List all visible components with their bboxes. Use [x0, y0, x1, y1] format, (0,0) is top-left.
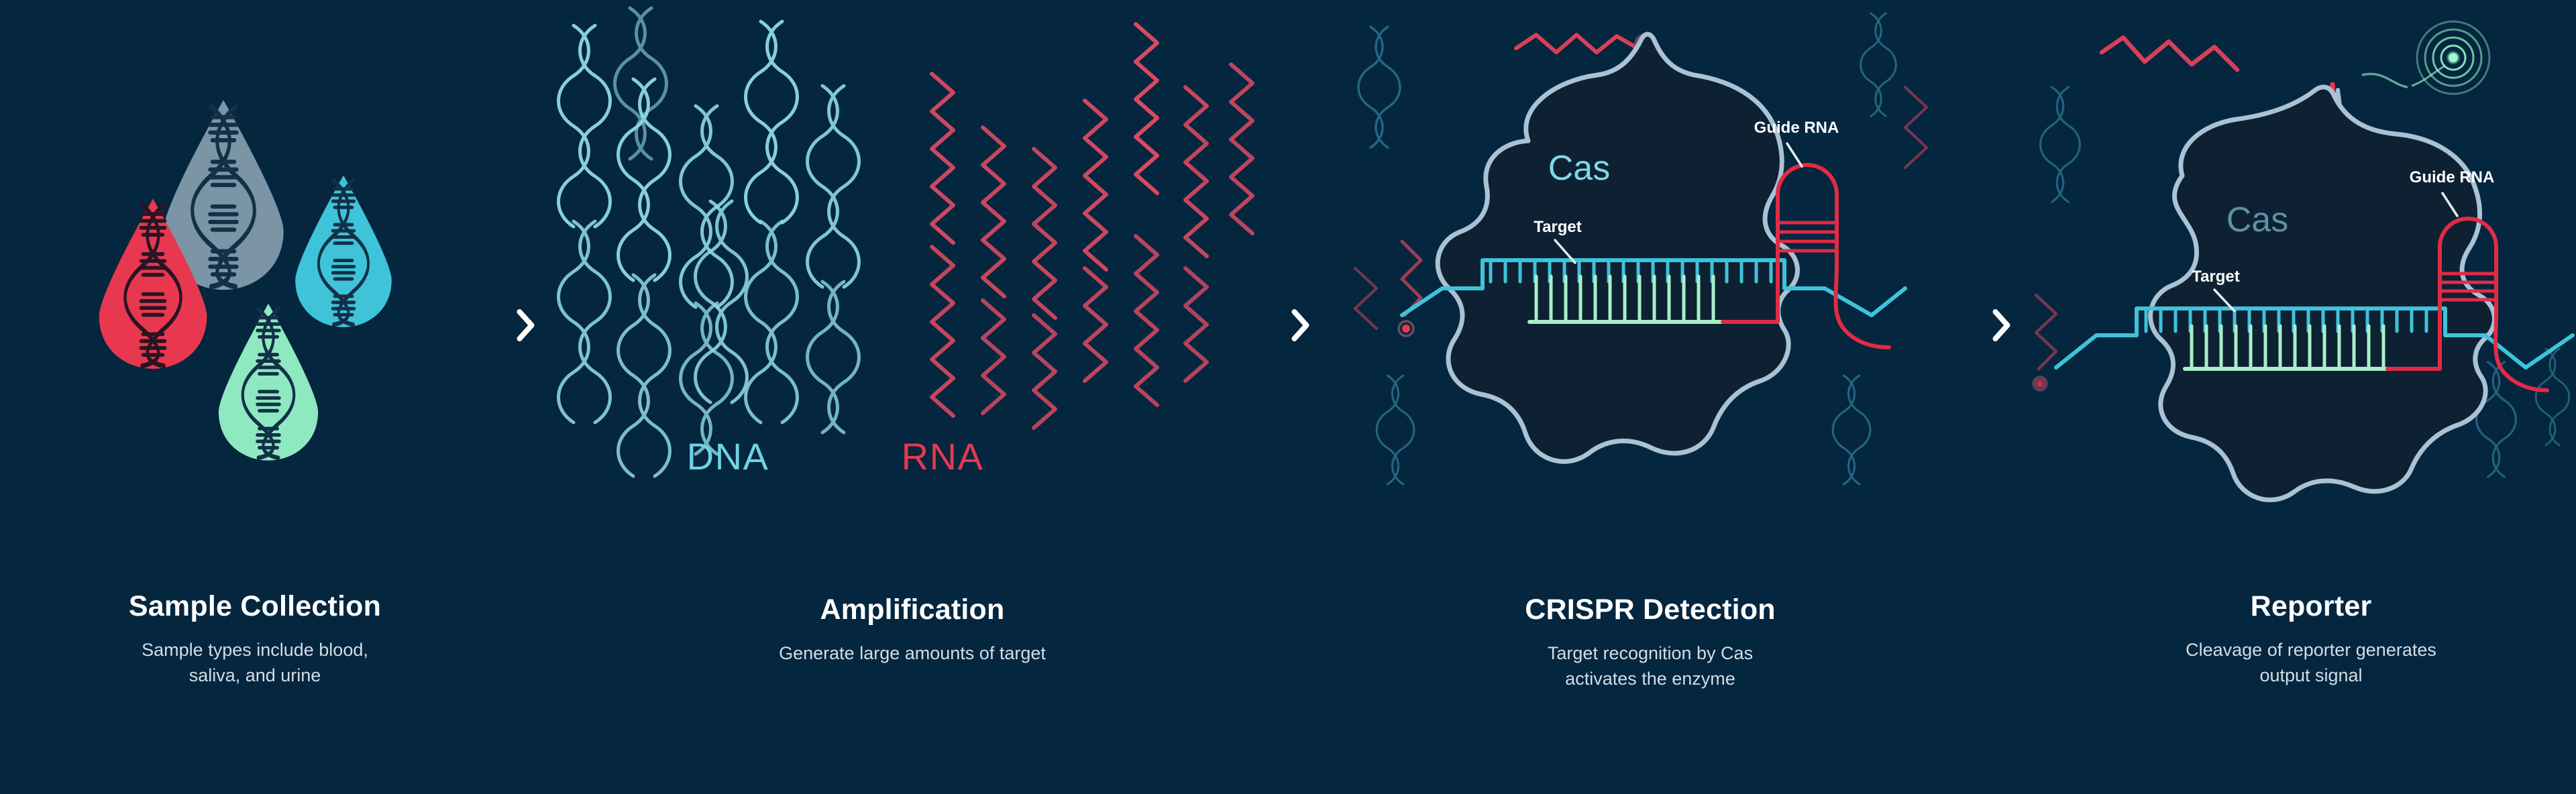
arrow-cell-1 — [510, 0, 540, 794]
step-crispr-detection: Cas Guide RNA Target CRISPR Detection Ta… — [1315, 0, 1986, 794]
step-subtitle-line: activates the enzyme — [1328, 667, 1972, 691]
step-subtitle-line: Cleavage of reporter generates — [2029, 638, 2576, 663]
step-arrow-2 — [1285, 305, 1315, 345]
reporter-caption: Reporter Cleavage of reporter generates … — [2016, 590, 2576, 688]
step-title: Sample Collection — [13, 590, 496, 623]
guide-rna-label: Guide RNA — [1754, 119, 1839, 137]
crispr-detection-caption: CRISPR Detection Target recognition by C… — [1315, 593, 1986, 691]
crispr-detection-artwork: Cas Guide RNA Target — [1315, 0, 1986, 550]
step-sample-collection: Sample Collection Sample types include b… — [0, 0, 510, 794]
step-subtitle-line: Target recognition by Cas — [1328, 641, 1972, 666]
arrow-cell-2 — [1285, 0, 1315, 794]
step-subtitle: Sample types include blood, saliva, and … — [13, 638, 496, 688]
step-subtitle: Target recognition by Cas activates the … — [1328, 641, 1972, 691]
step-subtitle-line: output signal — [2029, 663, 2576, 688]
step-title: Reporter — [2029, 590, 2576, 623]
step-subtitle: Cleavage of reporter generates output si… — [2029, 638, 2576, 688]
target-label: Target — [2192, 268, 2240, 286]
target-label: Target — [1534, 218, 1582, 236]
dna-label: DNA — [687, 435, 769, 477]
mint-droplet — [219, 304, 318, 461]
cas-protein-blob — [1438, 34, 1797, 461]
reporter-artwork: Cas Guide RNA Target — [2016, 0, 2576, 550]
sample-collection-caption: Sample Collection Sample types include b… — [0, 590, 510, 688]
rna-label: RNA — [902, 435, 984, 477]
amplification-artwork: DNA RNA — [540, 0, 1285, 550]
crispr-workflow-diagram: Sample Collection Sample types include b… — [0, 0, 2576, 794]
dna-strand-cluster — [559, 8, 859, 476]
amplification-caption: Amplification Generate large amounts of … — [540, 593, 1285, 667]
step-subtitle: Generate large amounts of target — [553, 641, 1271, 666]
step-amplification: DNA RNA Amplification Generate large amo… — [540, 0, 1285, 794]
reporter-molecule-lower — [1399, 241, 1421, 336]
guide-rna-leader-line — [1787, 144, 1802, 166]
cas-label: Cas — [1548, 149, 1610, 188]
step-subtitle-line: Generate large amounts of target — [553, 641, 1271, 666]
cas-protein-blob — [2151, 87, 2495, 500]
step-title: CRISPR Detection — [1328, 593, 1972, 626]
step-title: Amplification — [553, 593, 1271, 626]
step-subtitle-line: saliva, and urine — [13, 663, 496, 688]
step-reporter: Cas Guide RNA Target Reporter Cleavage o… — [2016, 0, 2576, 794]
signal-emission-icon — [2362, 21, 2489, 94]
cleaved-reporter-fragment — [2102, 38, 2237, 70]
arrow-cell-3 — [1986, 0, 2016, 794]
cyan-droplet — [295, 175, 392, 327]
step-arrow-3 — [1986, 305, 2016, 345]
rna-strand-cluster — [932, 24, 1252, 428]
guide-rna-label: Guide RNA — [2410, 168, 2495, 186]
cas-label: Cas — [2226, 201, 2288, 239]
sample-collection-artwork — [0, 0, 510, 550]
step-arrow-1 — [510, 305, 540, 345]
step-subtitle-line: Sample types include blood, — [13, 638, 496, 663]
